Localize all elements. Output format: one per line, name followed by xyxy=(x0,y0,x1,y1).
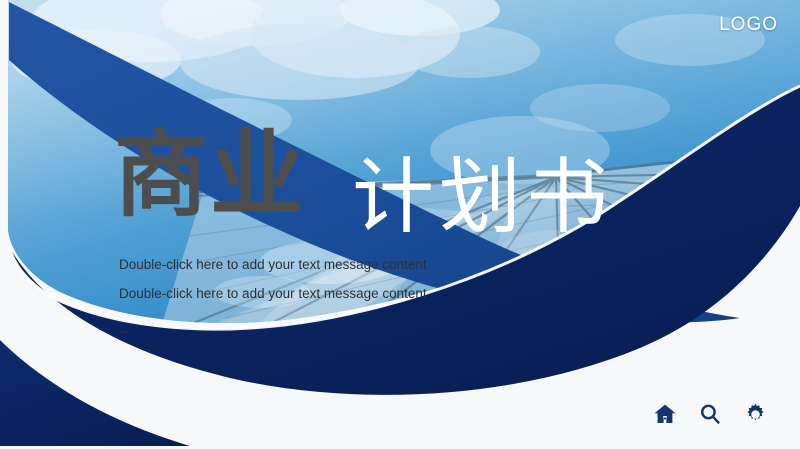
home-icon[interactable] xyxy=(652,401,678,427)
subtitle-line-2[interactable]: Double-click here to add your text messa… xyxy=(119,279,579,308)
subtitle-line-1[interactable]: Double-click here to add your text messa… xyxy=(119,250,579,279)
divider-mark: -- xyxy=(119,324,579,338)
search-icon[interactable] xyxy=(697,401,723,427)
gear-icon[interactable] xyxy=(742,401,768,427)
subtitle-block: Double-click here to add your text messa… xyxy=(119,250,579,338)
bottom-icon-row xyxy=(652,401,768,427)
presentation-slide: LOGO 商业 计划书 Double-click here to add you… xyxy=(0,0,800,449)
logo-text[interactable]: LOGO xyxy=(719,14,778,36)
slide-background-art xyxy=(0,0,800,449)
